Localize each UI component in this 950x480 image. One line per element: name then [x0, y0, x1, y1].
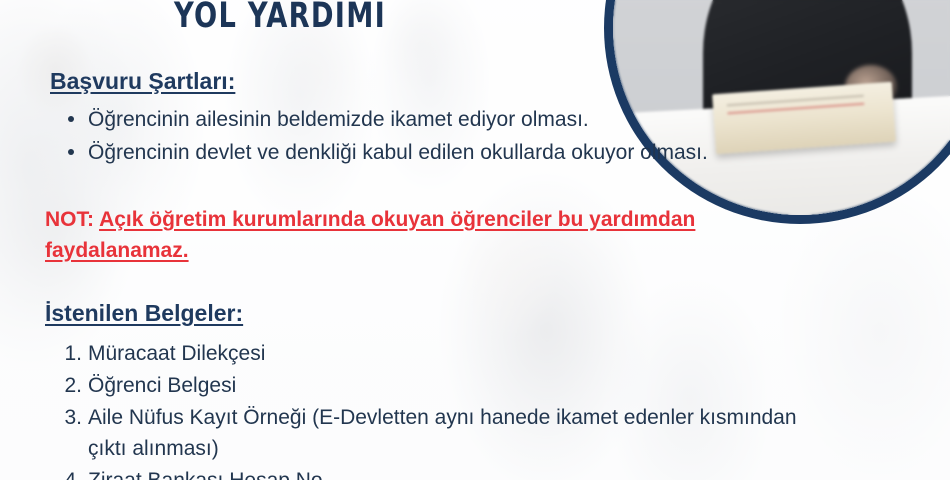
poster-content: YOL YARDIMI Başvuru Şartları: Öğrencinin… — [0, 0, 950, 480]
list-item: 2. Öğrenci Belgesi — [58, 370, 798, 401]
list-item-number: 3. — [58, 402, 82, 433]
poster-canvas: YOL YARDIMI Başvuru Şartları: Öğrencinin… — [0, 0, 950, 480]
list-item-label: Öğrenci Belgesi — [88, 374, 236, 397]
documents-list: 1. Müracaat Dilekçesi 2. Öğrenci Belgesi… — [58, 338, 798, 480]
list-item: 4. Ziraat Bankası Hesap No — [58, 465, 798, 480]
list-item-label: Öğrencinin devlet ve denkliği kabul edil… — [88, 141, 708, 164]
list-item: 1. Müracaat Dilekçesi — [58, 338, 798, 369]
documents-heading: İstenilen Belgeler: — [45, 300, 243, 327]
list-item: Öğrencinin devlet ve denkliği kabul edil… — [62, 137, 722, 168]
page-title: YOL YARDIMI — [62, 0, 499, 36]
note-text: Açık öğretim kurumlarında okuyan öğrenci… — [45, 208, 695, 262]
conditions-list: Öğrencinin ailesinin beldemizde ikamet e… — [62, 104, 722, 170]
note-block: NOT: Açık öğretim kurumlarında okuyan öğ… — [45, 204, 725, 266]
list-item-number: 2. — [58, 370, 82, 401]
list-item-label: Öğrencinin ailesinin beldemizde ikamet e… — [88, 108, 589, 131]
list-item-label: Aile Nüfus Kayıt Örneği (E-Devletten ayn… — [88, 406, 797, 460]
conditions-heading: Başvuru Şartları: — [50, 68, 235, 95]
note-label: NOT: — [45, 208, 94, 231]
list-item: 3. Aile Nüfus Kayıt Örneği (E-Devletten … — [58, 402, 798, 464]
bullet-icon — [68, 116, 74, 122]
list-item-label: Ziraat Bankası Hesap No — [88, 469, 323, 480]
list-item-number: 1. — [58, 338, 82, 369]
bullet-icon — [68, 149, 74, 155]
list-item: Öğrencinin ailesinin beldemizde ikamet e… — [62, 104, 722, 135]
list-item-number: 4. — [58, 465, 82, 480]
list-item-label: Müracaat Dilekçesi — [88, 342, 265, 365]
